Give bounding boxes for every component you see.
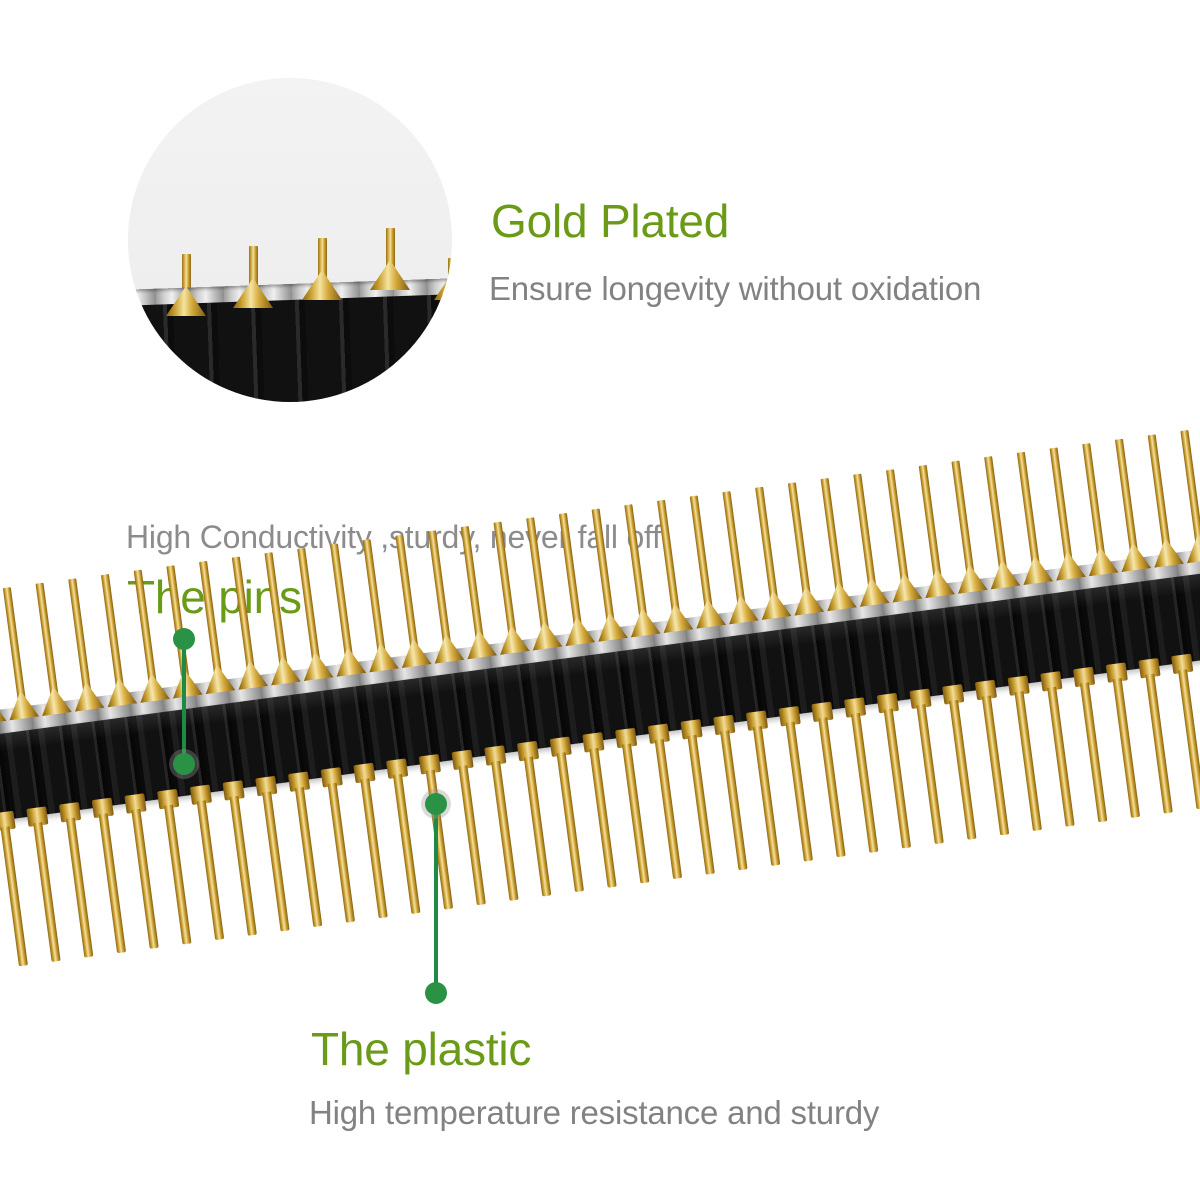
pin-down [393, 774, 420, 914]
pin-up [559, 513, 583, 633]
pins-connector-line [182, 645, 186, 765]
plastic-connector-dot-bottom [425, 982, 447, 1004]
pin-up [722, 491, 746, 611]
plastic-connector-dot-target [425, 793, 447, 815]
pin-up [3, 587, 27, 707]
gold-plated-title: Gold Plated [491, 198, 729, 244]
pin-up [1115, 439, 1139, 559]
pin-down [295, 787, 322, 927]
pin-up [951, 461, 975, 581]
pin-up [592, 509, 616, 629]
pin-down [33, 822, 60, 962]
pin-up [134, 570, 158, 690]
pin-up [363, 539, 387, 659]
pin-up [461, 526, 485, 646]
pin-down [655, 739, 682, 879]
pin-down [622, 743, 649, 883]
pin-up [821, 478, 845, 598]
pin-up [330, 543, 354, 663]
pin-up [1082, 443, 1106, 563]
pin-down [687, 735, 714, 875]
pin-up [1148, 434, 1172, 554]
pin-down [851, 713, 878, 853]
pin-up [395, 535, 419, 655]
pin-down [949, 700, 976, 840]
pin-down [66, 818, 93, 958]
pin-down [1014, 691, 1041, 831]
pin-up [657, 500, 681, 620]
pin-down [197, 800, 224, 940]
pin-up [690, 495, 714, 615]
plastic-title: The plastic [311, 1026, 531, 1072]
gold-pin-closeup-photo [128, 78, 452, 402]
infographic-canvas: Gold Plated Ensure longevity without oxi… [0, 0, 1200, 1200]
pin-up [624, 504, 648, 624]
pin-up [788, 482, 812, 602]
pin-down [786, 722, 813, 862]
pin-down [884, 709, 911, 849]
pin-header-strip-photo [0, 382, 1200, 966]
pin-up [493, 522, 517, 642]
pin-down [1145, 674, 1172, 814]
plastic-subtitle: High temperature resistance and sturdy [309, 1096, 879, 1129]
pin-down [589, 748, 616, 888]
pin-down [99, 813, 126, 953]
pin-down [524, 757, 551, 897]
pin-up [919, 465, 943, 585]
pin-down [426, 770, 453, 910]
pin-down [229, 796, 256, 936]
pin-down [818, 717, 845, 857]
pin-up [36, 583, 60, 703]
pin-up [166, 565, 190, 685]
pin-up [886, 469, 910, 589]
pin-up [853, 474, 877, 594]
pin-up [199, 561, 223, 681]
pin-down [720, 730, 747, 870]
pins-connector-dot-top [173, 628, 195, 650]
pin-up [68, 578, 92, 698]
pin-down [1047, 687, 1074, 827]
plastic-connector-line [434, 808, 438, 988]
gold-plated-subtitle: Ensure longevity without oxidation [489, 272, 981, 305]
pin-down [753, 726, 780, 866]
pin-down [916, 704, 943, 844]
pin-up [1180, 430, 1200, 550]
pin-up [232, 557, 256, 677]
pin-down [164, 805, 191, 945]
pin-down [0, 826, 27, 966]
pin-down [360, 778, 387, 918]
pin-up [265, 552, 289, 672]
pin-down [491, 761, 518, 901]
pin-down [982, 695, 1009, 835]
pin-down [328, 783, 355, 923]
pin-down [458, 765, 485, 905]
pin-up [1017, 452, 1041, 572]
pin-down [557, 752, 584, 892]
pin-down [1080, 682, 1107, 822]
pin-up [526, 517, 550, 637]
pins-connector-dot-target [173, 753, 195, 775]
pin-down [1113, 678, 1140, 818]
pin-down [1178, 669, 1200, 809]
pin-down [262, 791, 289, 931]
pin-up [297, 548, 321, 668]
pin-up [428, 530, 452, 650]
pin-down [131, 809, 158, 949]
pin-up [101, 574, 125, 694]
pin-up [755, 487, 779, 607]
pin-up [1050, 447, 1074, 567]
pin-up [984, 456, 1008, 576]
